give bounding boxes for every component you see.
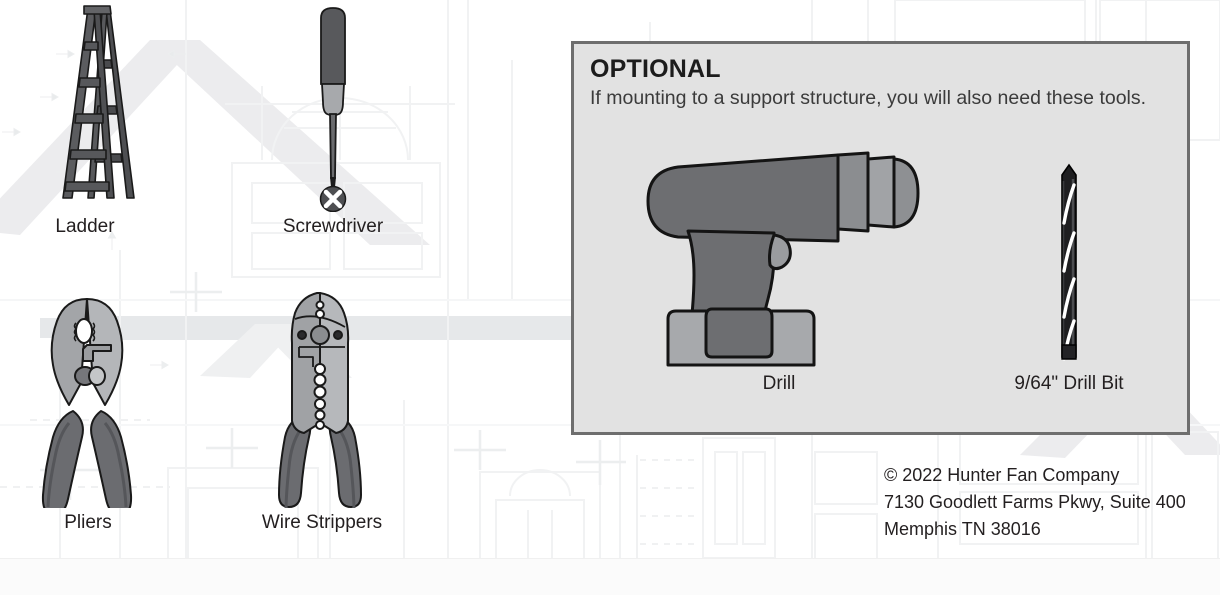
- tool-drill: Drill: [634, 139, 924, 393]
- pliers-icon: [15, 283, 161, 513]
- tool-ladder: Ladder: [10, 2, 160, 236]
- tool-label-wire-strippers: Wire Strippers: [247, 513, 397, 532]
- tool-wire-strippers: Wire Strippers: [247, 283, 397, 532]
- optional-title: OPTIONAL: [590, 57, 721, 82]
- tool-label-pliers: Pliers: [15, 513, 161, 532]
- tool-drill-bit: 9/64" Drill Bit: [954, 139, 1184, 393]
- phillips-screw-icon: [321, 187, 346, 212]
- drill-bit-icon: [954, 139, 1184, 374]
- copyright-line-3: Memphis TN 38016: [884, 516, 1186, 543]
- tool-screwdriver: Screwdriver: [255, 2, 411, 236]
- tool-label-drill-bit: 9/64" Drill Bit: [954, 374, 1184, 393]
- optional-panel: OPTIONAL If mounting to a support struct…: [571, 41, 1190, 435]
- ladder-icon: [10, 2, 160, 217]
- copyright-block: © 2022 Hunter Fan Company 7130 Goodlett …: [884, 462, 1186, 543]
- copyright-line-1: © 2022 Hunter Fan Company: [884, 462, 1186, 489]
- drill-icon: [634, 139, 924, 374]
- optional-subtitle: If mounting to a support structure, you …: [590, 89, 1146, 109]
- tool-label-screwdriver: Screwdriver: [255, 217, 411, 236]
- tool-label-ladder: Ladder: [10, 217, 160, 236]
- copyright-line-2: 7130 Goodlett Farms Pkwy, Suite 400: [884, 489, 1186, 516]
- tool-label-drill: Drill: [634, 374, 924, 393]
- wire-strippers-icon: [247, 283, 397, 513]
- tool-pliers: Pliers: [15, 283, 161, 532]
- screwdriver-icon: [255, 2, 411, 217]
- tools-required-page: Ladder: [0, 0, 1220, 595]
- footer-strip: [0, 558, 1220, 595]
